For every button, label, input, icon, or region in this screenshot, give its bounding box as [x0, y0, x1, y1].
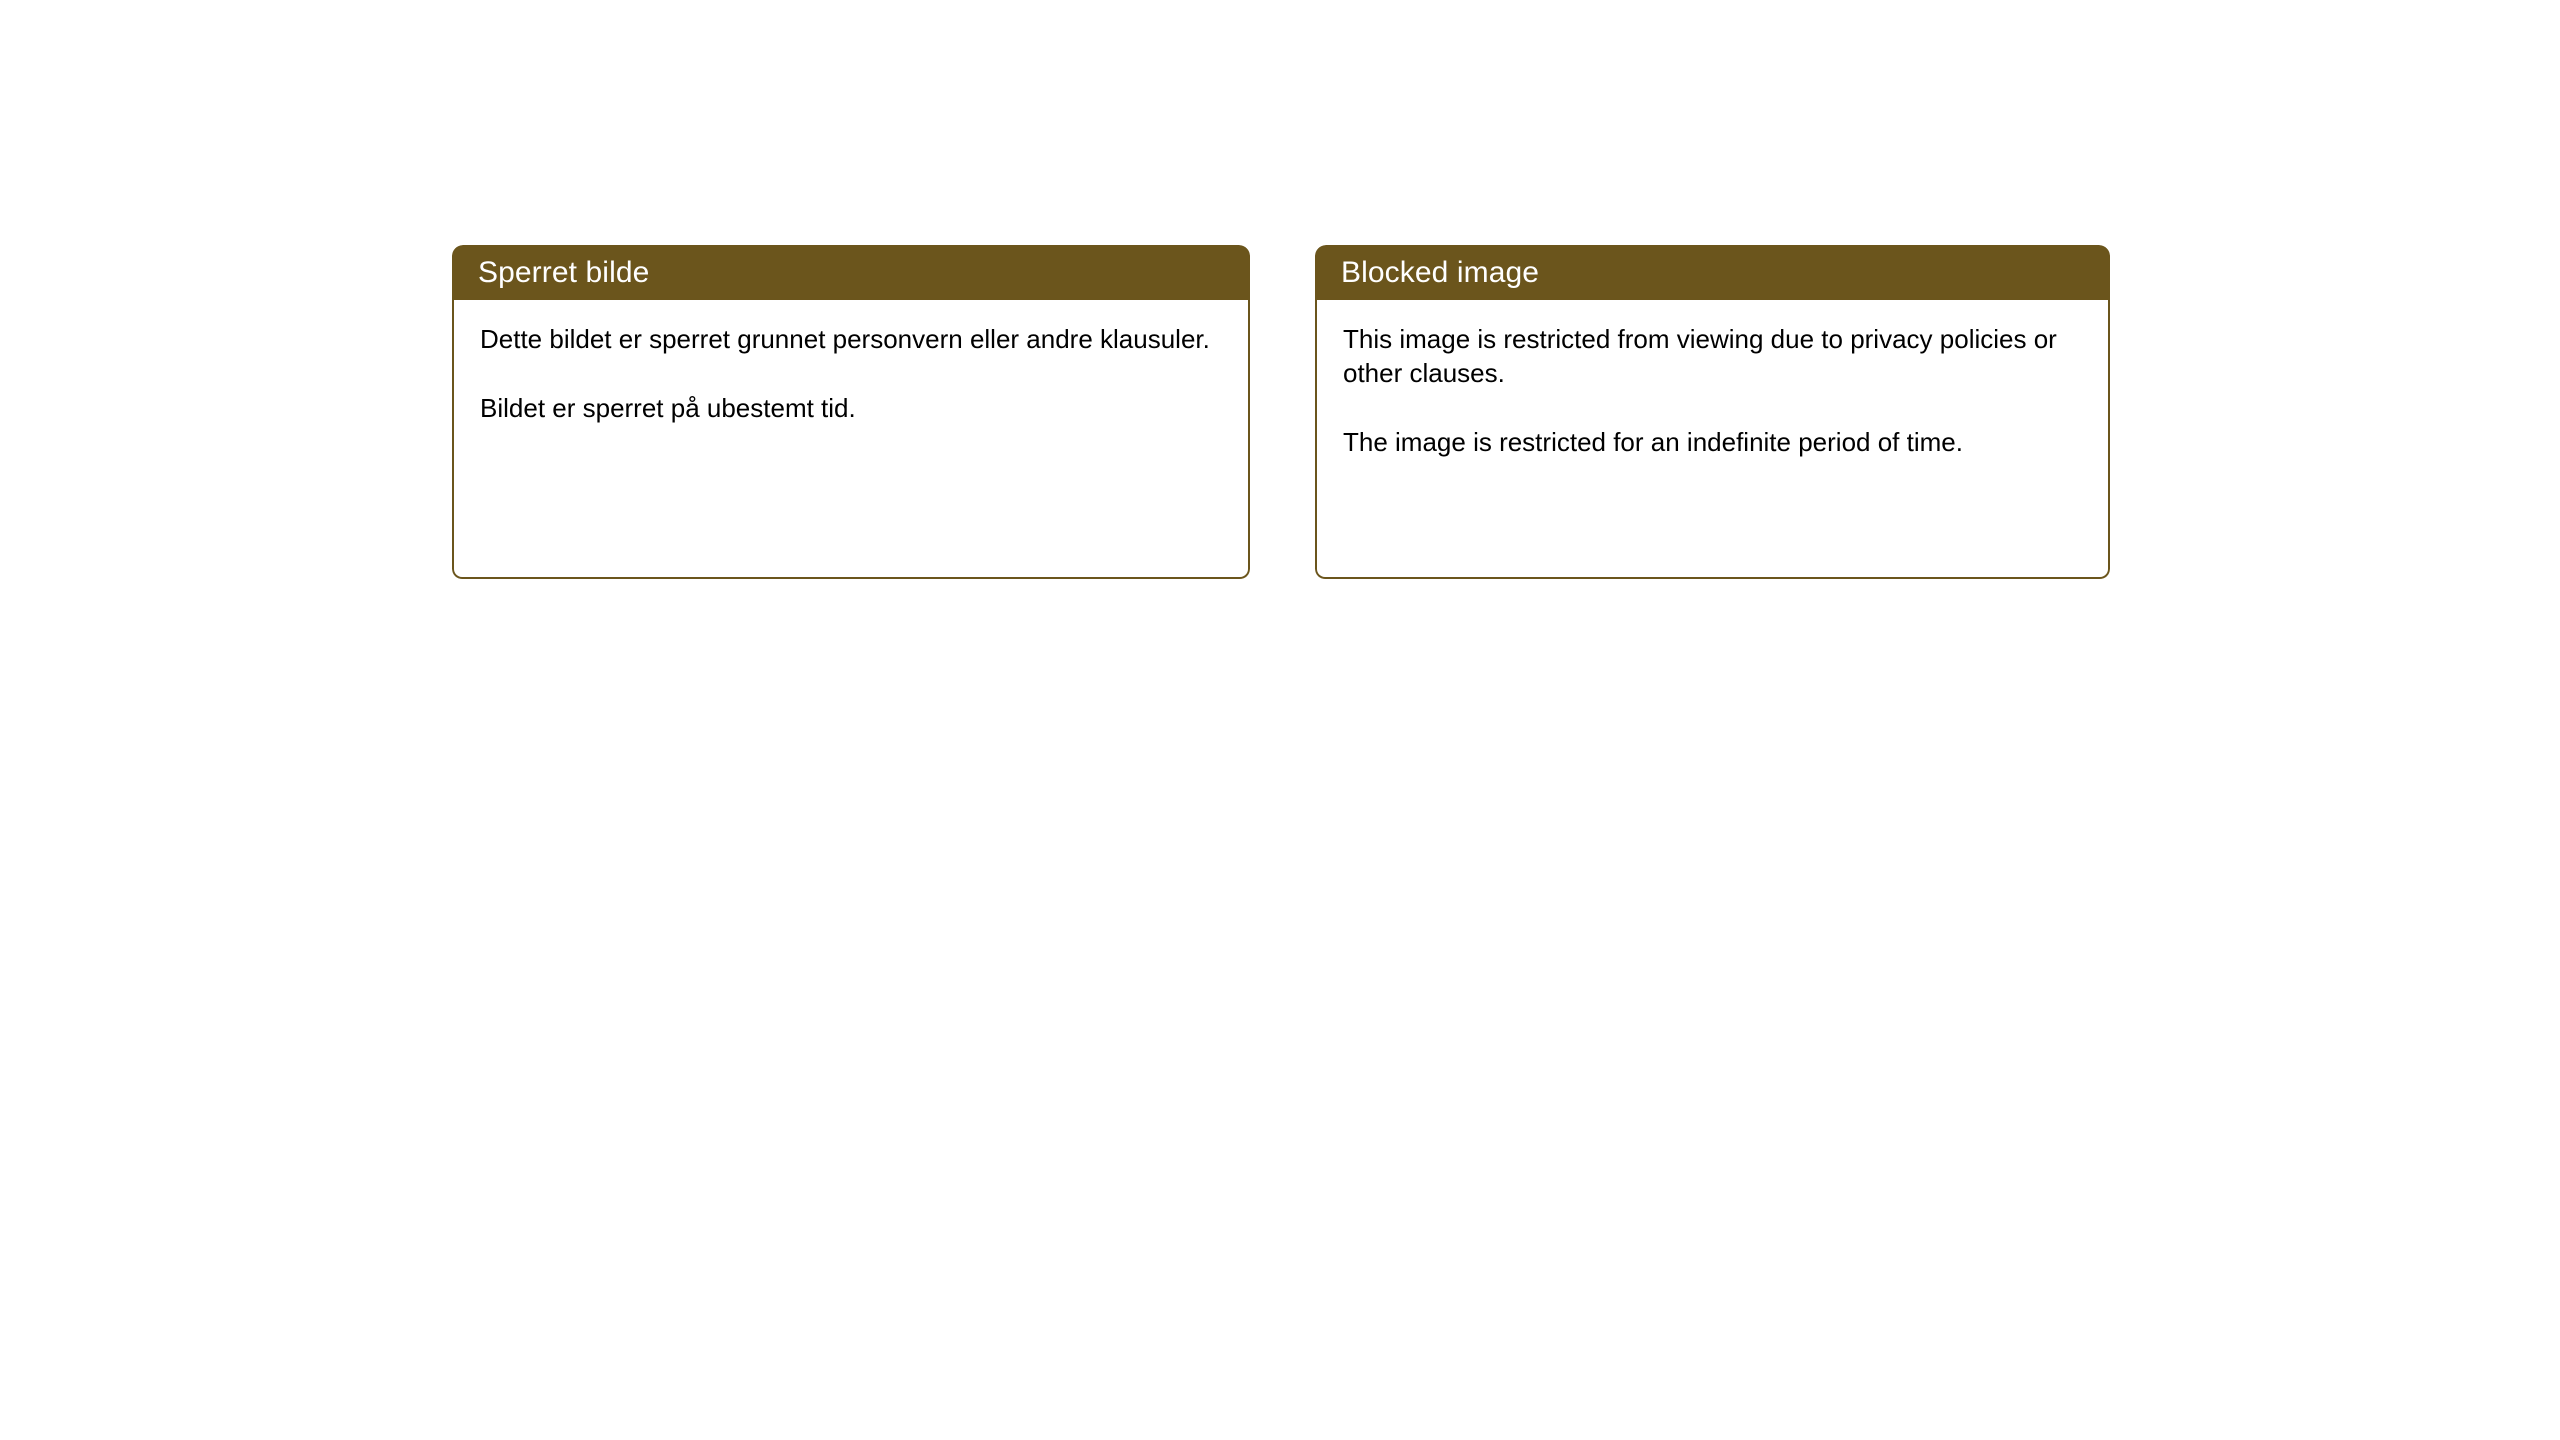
card-paragraph-secondary-english: The image is restricted for an indefinit…: [1343, 425, 2084, 459]
card-header-english: Blocked image: [1315, 245, 2110, 300]
card-paragraph-primary-english: This image is restricted from viewing du…: [1343, 322, 2084, 390]
card-paragraph-secondary-norwegian: Bildet er sperret på ubestemt tid.: [480, 391, 1224, 425]
card-title-english: Blocked image: [1341, 256, 1539, 290]
card-body-english: This image is restricted from viewing du…: [1315, 300, 2110, 579]
card-title-norwegian: Sperret bilde: [478, 256, 649, 290]
card-body-norwegian: Dette bildet er sperret grunnet personve…: [452, 300, 1250, 579]
card-header-norwegian: Sperret bilde: [452, 245, 1250, 300]
blocked-image-card-english: Blocked image This image is restricted f…: [1315, 245, 2110, 579]
blocked-image-card-norwegian: Sperret bilde Dette bildet er sperret gr…: [452, 245, 1250, 579]
blocked-image-notice-area: Sperret bilde Dette bildet er sperret gr…: [452, 245, 2110, 579]
card-paragraph-primary-norwegian: Dette bildet er sperret grunnet personve…: [480, 322, 1224, 356]
